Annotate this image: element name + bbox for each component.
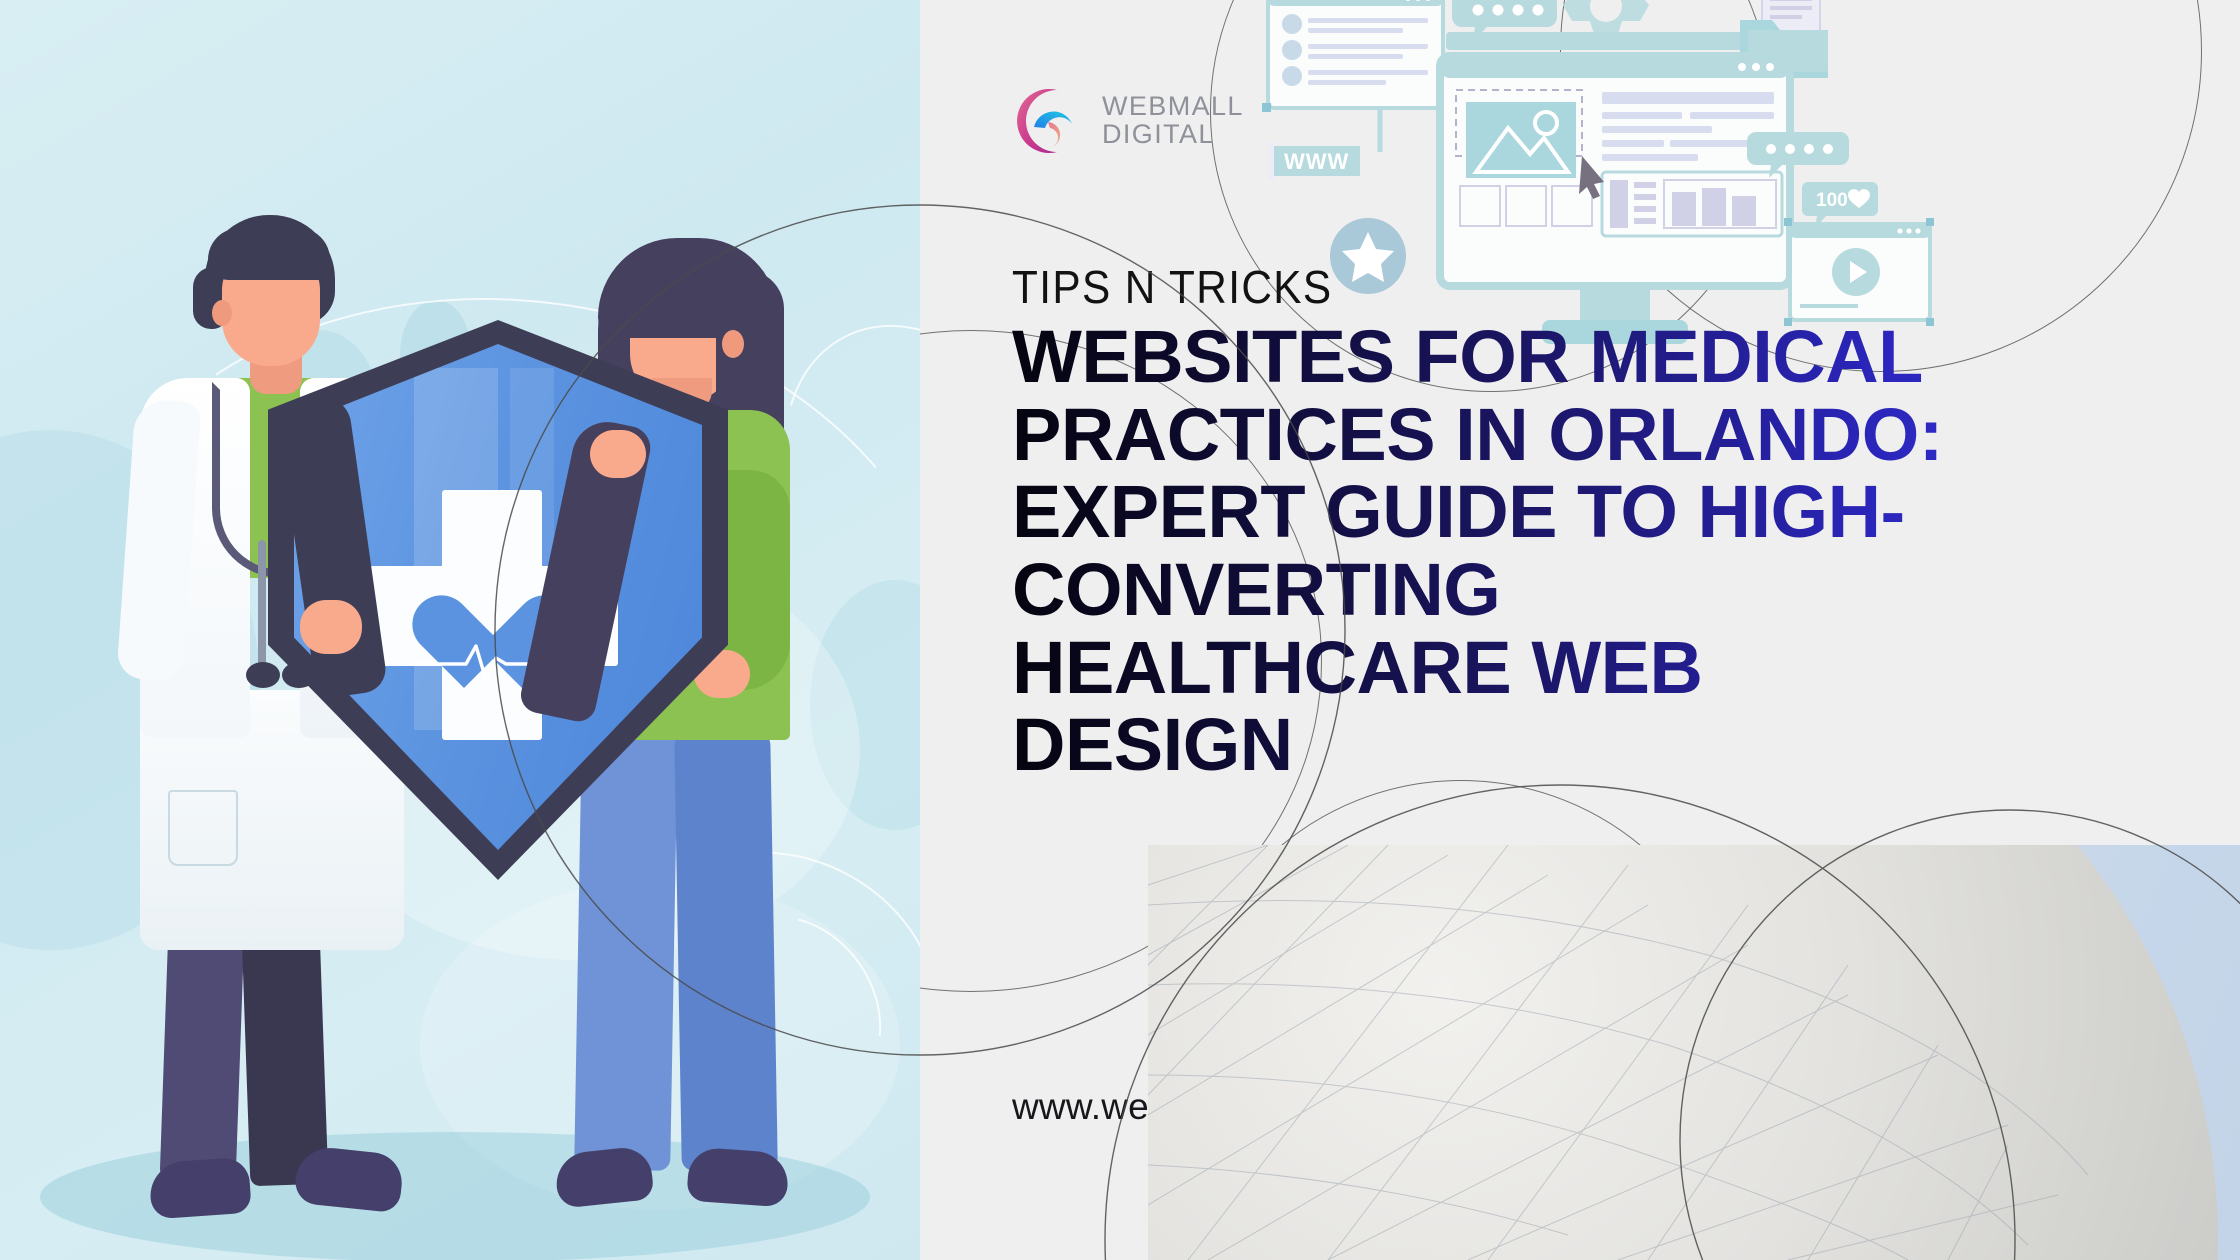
headline-line: CONVERTING <box>1012 551 2192 629</box>
doctor-hand <box>300 600 362 654</box>
page-title: WEBSITES FOR MEDICAL PRACTICES IN ORLAND… <box>1012 318 2192 784</box>
sphere-facets <box>1148 845 2240 1260</box>
svg-text:WWW: WWW <box>1284 149 1349 174</box>
brand-name-line1: WEBMALL <box>1102 93 1244 121</box>
stethoscope-tube <box>258 540 266 670</box>
doctor-leg-left <box>160 929 245 1182</box>
svg-text:100: 100 <box>1816 190 1848 211</box>
headline-line: EXPERT GUIDE TO HIGH- <box>1012 473 2192 551</box>
doctor-ear <box>212 300 232 326</box>
headline-line: HEALTHCARE WEB <box>1012 629 2192 707</box>
kicker-label: TIPS N TRICKS <box>1012 260 1333 314</box>
brand-logo[interactable]: WEBMALL DIGITAL <box>1008 84 1244 158</box>
webmall-swirl-logo-icon <box>1008 84 1082 158</box>
poster-canvas: WWW 100 <box>0 0 2240 1260</box>
doctor-hair-fringe <box>208 228 330 280</box>
headline-line: DESIGN <box>1012 706 2192 784</box>
doctor-leg-right <box>242 929 329 1187</box>
left-illustration-panel <box>0 0 920 1260</box>
headline-line: PRACTICES IN ORLANDO: <box>1012 396 2192 474</box>
patient-hand <box>590 430 646 478</box>
brand-name-line2: DIGITAL <box>1102 121 1244 149</box>
headline-line: WEBSITES FOR MEDICAL <box>1012 318 2192 396</box>
geodesic-sphere-photo <box>1148 845 2240 1260</box>
doctor-coat-pocket <box>168 790 238 866</box>
brand-name: WEBMALL DIGITAL <box>1102 93 1244 148</box>
